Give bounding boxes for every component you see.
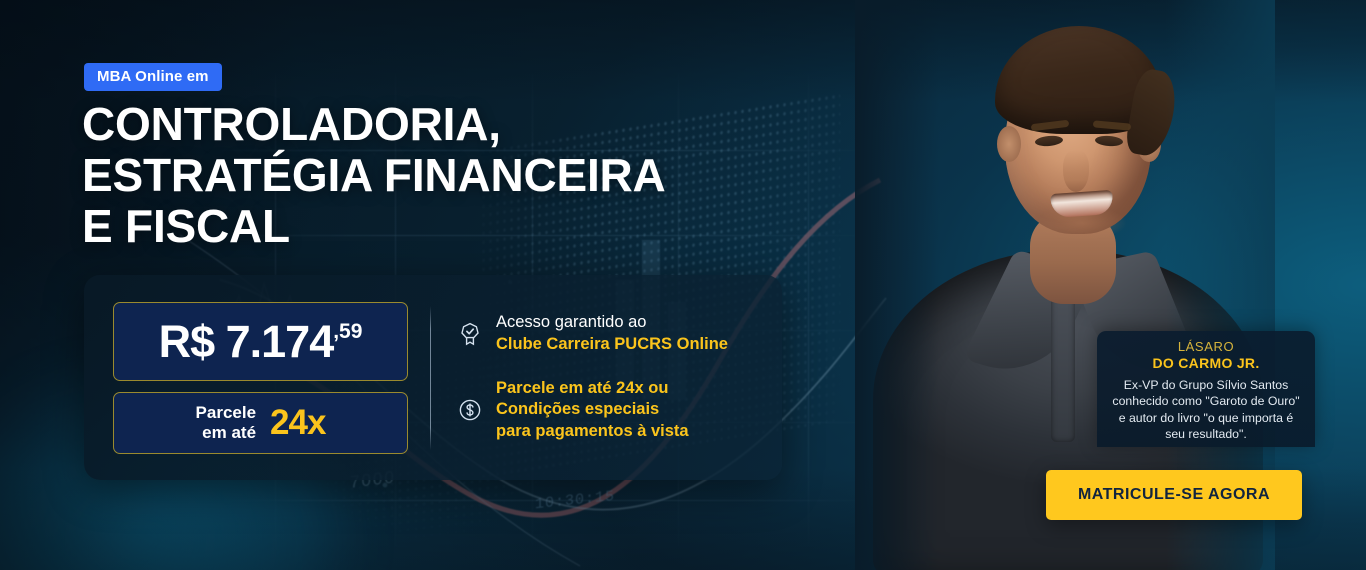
- speaker-first-name: LÁSARO: [1109, 339, 1303, 355]
- page-title: CONTROLADORIA, ESTRATÉGIA FINANCEIRA E F…: [82, 99, 842, 252]
- benefit-access-line-2: Clube Carreira PUCRS Online: [496, 334, 728, 356]
- price-cents: ,59: [333, 321, 362, 342]
- benefit-payment-line-2: Condições especiais: [496, 399, 689, 421]
- headline-line-2: ESTRATÉGIA FINANCEIRA: [82, 149, 666, 201]
- enroll-now-button[interactable]: MATRICULE-SE AGORA: [1046, 470, 1302, 520]
- price-value: R$ 7.174,59: [159, 319, 363, 364]
- benefit-access-line-1: Acesso garantido ao: [496, 312, 728, 334]
- speaker-last-name: DO CARMO JR.: [1109, 355, 1303, 373]
- speaker-info-card: LÁSARO DO CARMO JR. Ex-VP do Grupo Sílvi…: [1097, 331, 1315, 447]
- benefit-item-access: Acesso garantido ao Clube Carreira PUCRS…: [457, 312, 728, 356]
- speaker-bio: Ex-VP do Grupo Sílvio Santos conhecido c…: [1109, 377, 1303, 442]
- dollar-coin-icon: [457, 397, 483, 423]
- benefit-payment-line-1: Parcele em até 24x ou: [496, 378, 689, 400]
- offer-panel: R$ 7.174,59 Parcele em até 24x: [84, 275, 782, 480]
- installment-box: Parcele em até 24x: [113, 392, 408, 454]
- installment-label-line-2: em até: [202, 423, 256, 442]
- vertical-divider: [430, 306, 431, 450]
- benefit-item-payment: Parcele em até 24x ou Condições especiai…: [457, 378, 728, 444]
- benefit-payment-line-3: para pagamentos à vista: [496, 421, 689, 443]
- benefit-text-access: Acesso garantido ao Clube Carreira PUCRS…: [496, 312, 728, 356]
- benefits-list: Acesso garantido ao Clube Carreira PUCRS…: [457, 312, 746, 444]
- headline-line-3: E FISCAL: [82, 200, 290, 252]
- benefit-text-payment: Parcele em até 24x ou Condições especiai…: [496, 378, 689, 444]
- promo-banner: 7000 10:30:15 MBA Online em: [0, 0, 1366, 570]
- installment-count: 24x: [270, 403, 325, 443]
- headline-line-1: CONTROLADORIA,: [82, 98, 501, 150]
- pricing-column: R$ 7.174,59 Parcele em até 24x: [84, 302, 408, 454]
- installment-label-line-1: Parcele: [196, 403, 257, 422]
- award-badge-icon: [457, 321, 483, 347]
- price-amount: R$ 7.174: [159, 319, 334, 364]
- price-box: R$ 7.174,59: [113, 302, 408, 381]
- installment-label: Parcele em até: [196, 403, 257, 442]
- course-type-badge: MBA Online em: [84, 63, 222, 91]
